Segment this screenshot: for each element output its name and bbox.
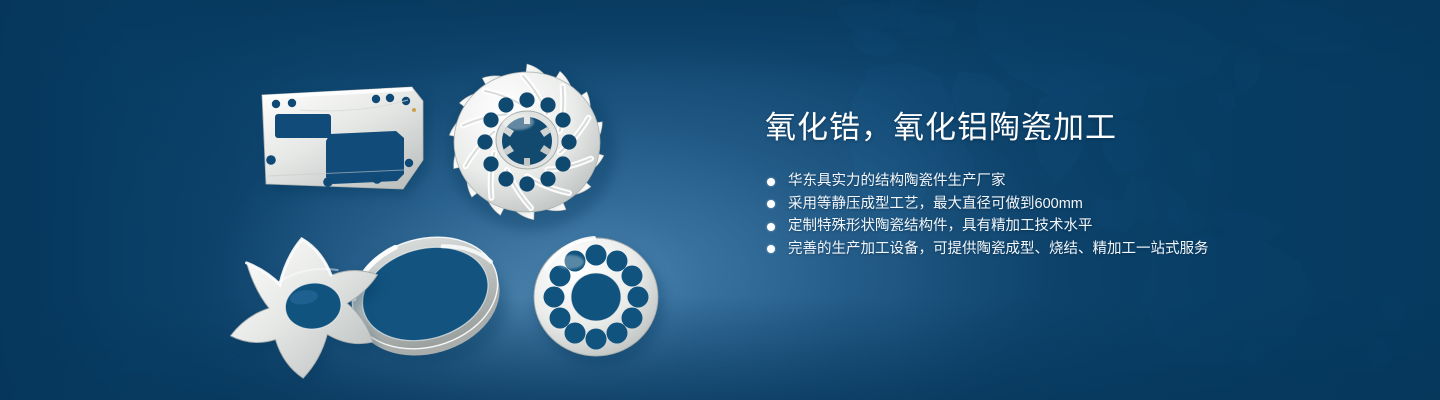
product-ceramic-perforated-disc: [534, 238, 664, 366]
marketing-copy: 氧化锆，氧化铝陶瓷加工 华东具实力的结构陶瓷件生产厂家 采用等静压成型工艺，最大…: [765, 108, 1405, 260]
product-ceramic-impeller: [446, 64, 616, 230]
product-ceramic-plate: [262, 87, 428, 196]
hero-banner: 氧化锆，氧化铝陶瓷加工 华东具实力的结构陶瓷件生产厂家 采用等静压成型工艺，最大…: [0, 0, 1440, 400]
page-title: 氧化锆，氧化铝陶瓷加工: [765, 108, 1405, 148]
ceramic-products-image: [0, 0, 720, 400]
list-item: 定制特殊形状陶瓷结构件，具有精加工技术水平: [765, 215, 1405, 238]
list-item: 完善的生产加工设备，可提供陶瓷成型、烧结、精加工一站式服务: [765, 238, 1405, 261]
bullet-dot-icon: [767, 245, 775, 253]
list-item: 华东具实力的结构陶瓷件生产厂家: [765, 170, 1405, 193]
bullet-dot-icon: [767, 200, 775, 208]
list-item-label: 完善的生产加工设备，可提供陶瓷成型、烧结、精加工一站式服务: [788, 241, 1209, 257]
list-item-label: 定制特殊形状陶瓷结构件，具有精加工技术水平: [788, 218, 1093, 234]
list-item-label: 采用等静压成型工艺，最大直径可做到600mm: [788, 196, 1083, 212]
list-item-label: 华东具实力的结构陶瓷件生产厂家: [788, 173, 1006, 189]
bullet-dot-icon: [767, 223, 775, 231]
list-item: 采用等静压成型工艺，最大直径可做到600mm: [765, 193, 1405, 216]
feature-list: 华东具实力的结构陶瓷件生产厂家 采用等静压成型工艺，最大直径可做到600mm 定…: [765, 170, 1405, 260]
ceramic-products-svg: [0, 0, 720, 400]
bullet-dot-icon: [767, 178, 775, 186]
